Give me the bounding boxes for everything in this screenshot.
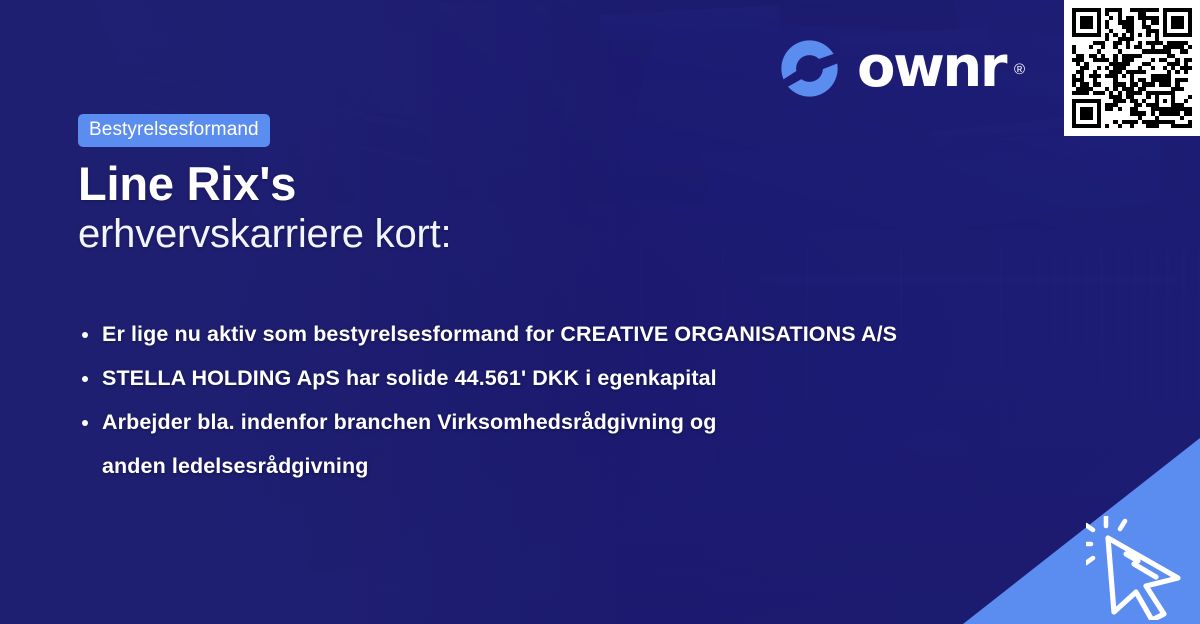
role-badge: Bestyrelsesformand: [78, 114, 270, 147]
registered-trademark-icon: ®: [1014, 42, 1025, 98]
ownr-wordmark-text: ownr: [857, 35, 1005, 100]
page-title: Line Rix's: [78, 158, 296, 210]
list-item: Arbejder bla. indenfor branchen Virksomh…: [80, 400, 1080, 488]
page-subtitle: erhvervskarriere kort:: [78, 210, 451, 258]
ownr-logo[interactable]: ownr®: [776, 33, 1026, 103]
business-card-banner: Bestyrelsesformand Line Rix's erhvervska…: [0, 0, 1200, 624]
list-item: STELLA HOLDING ApS har solide 44.561' DK…: [80, 356, 1080, 400]
ownr-wordmark: ownr®: [857, 40, 1005, 96]
list-item: Er lige nu aktiv som bestyrelsesformand …: [80, 312, 1080, 356]
click-cursor-icon: [1086, 516, 1194, 620]
ownr-circle-swoosh-icon: [776, 35, 843, 102]
qr-code-icon: [1072, 8, 1192, 128]
fact-list: Er lige nu aktiv som bestyrelsesformand …: [80, 312, 1080, 488]
qr-code[interactable]: [1064, 0, 1200, 136]
